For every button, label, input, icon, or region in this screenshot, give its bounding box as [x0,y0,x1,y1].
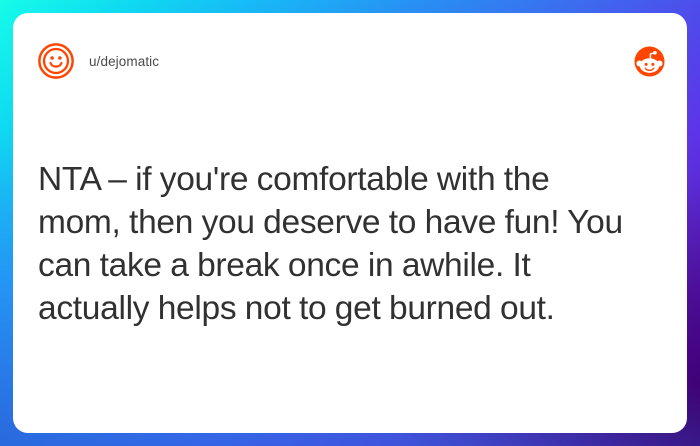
reddit-comment-card: u/dejomatic NTA – if you're comfo [13,13,687,433]
screenshot-root: u/dejomatic NTA – if you're comfo [0,0,700,446]
comment-text: NTA – if you're comfortable with the mom… [38,158,638,330]
card-header: u/dejomatic [13,13,687,109]
smiley-face-icon[interactable] [37,42,75,80]
username-label: u/dejomatic [89,54,159,69]
reddit-snoo-icon[interactable] [634,46,665,77]
